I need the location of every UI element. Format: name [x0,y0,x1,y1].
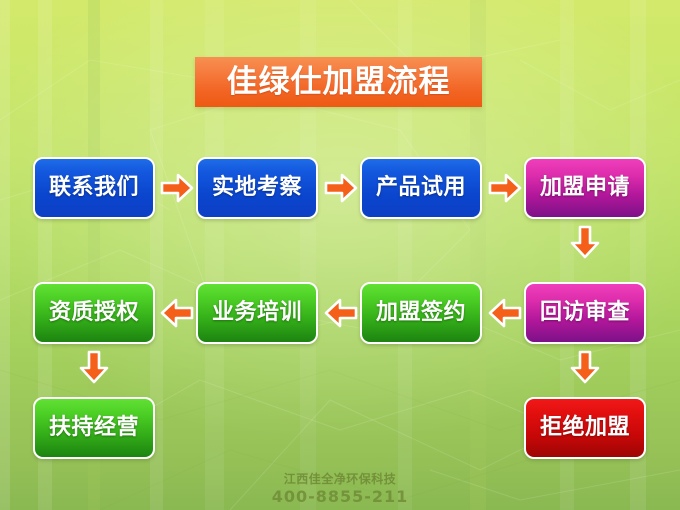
arrow-down-authorize-to-support-icon [78,350,110,384]
footer-company-name: 江西佳全净环保科技 [0,472,680,487]
flowchart-poster: 佳绿仕加盟流程 联系我们 实地考察 产品试用 加盟申请 资质授权 业务培训 加盟… [0,0,680,510]
flow-node-qualification-authorization[interactable]: 资质授权 [33,282,155,344]
page-title: 佳绿仕加盟流程 [227,67,451,98]
flow-node-label: 扶持经营 [49,417,139,439]
flow-node-label: 回访审查 [540,302,630,324]
flow-node-label: 业务培训 [212,302,302,324]
arrow-down-review-to-reject-icon [569,350,601,384]
flow-node-join-application[interactable]: 加盟申请 [524,157,646,219]
flow-node-label: 加盟申请 [540,177,630,199]
flow-node-support-operation[interactable]: 扶持经营 [33,397,155,459]
arrow-left-review-to-sign-icon [488,297,522,329]
flow-node-label: 实地考察 [212,177,302,199]
flow-node-label: 拒绝加盟 [540,417,630,439]
footer-phone-number: 400-8855-211 [0,487,680,506]
arrow-right-contact-to-survey-icon [160,172,194,204]
flow-node-product-trial[interactable]: 产品试用 [360,157,482,219]
arrow-left-training-to-authorize-icon [160,297,194,329]
arrow-left-sign-to-training-icon [324,297,358,329]
flow-node-sign-contract[interactable]: 加盟签约 [360,282,482,344]
flow-node-label: 加盟签约 [376,302,466,324]
flow-node-business-training[interactable]: 业务培训 [196,282,318,344]
flow-node-label: 联系我们 [49,177,139,199]
flow-node-label: 产品试用 [376,177,466,199]
arrow-down-apply-to-review-icon [569,225,601,259]
page-title-banner: 佳绿仕加盟流程 [195,57,482,107]
flow-node-return-visit-review[interactable]: 回访审查 [524,282,646,344]
flow-node-label: 资质授权 [49,302,139,324]
flow-node-site-visit[interactable]: 实地考察 [196,157,318,219]
arrow-right-trial-to-apply-icon [488,172,522,204]
footer: 江西佳全净环保科技 400-8855-211 [0,472,680,506]
arrow-right-survey-to-trial-icon [324,172,358,204]
flow-node-reject-application[interactable]: 拒绝加盟 [524,397,646,459]
flow-node-contact-us[interactable]: 联系我们 [33,157,155,219]
